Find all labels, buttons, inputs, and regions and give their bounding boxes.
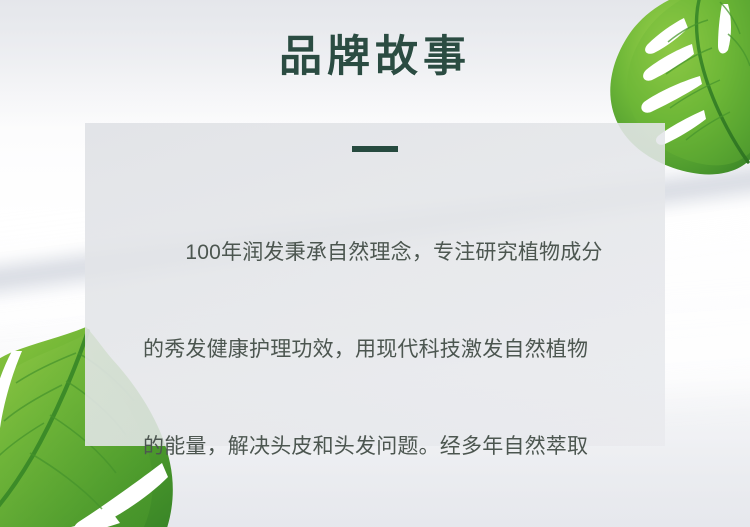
brand-story-page: 品牌故事 100年润发秉承自然理念，专注研究植物成分 的秀发健康护理功效，用现代… bbox=[0, 0, 750, 527]
page-title: 品牌故事 bbox=[0, 33, 750, 81]
title-divider-wrap bbox=[0, 146, 750, 152]
brand-story-paragraph: 100年润发秉承自然理念，专注研究植物成分 的秀发健康护理功效，用现代科技激发自… bbox=[143, 172, 619, 527]
body-line: 100年润发秉承自然理念，专注研究植物成分 bbox=[143, 237, 619, 269]
brand-story-body: 100年润发秉承自然理念，专注研究植物成分 的秀发健康护理功效，用现代科技激发自… bbox=[143, 172, 619, 527]
body-line: 的秀发健康护理功效，用现代科技激发自然植物 bbox=[143, 334, 619, 366]
title-divider bbox=[352, 146, 398, 152]
body-line: 的能量，解决头皮和头发问题。经多年自然萃取 bbox=[143, 431, 619, 463]
